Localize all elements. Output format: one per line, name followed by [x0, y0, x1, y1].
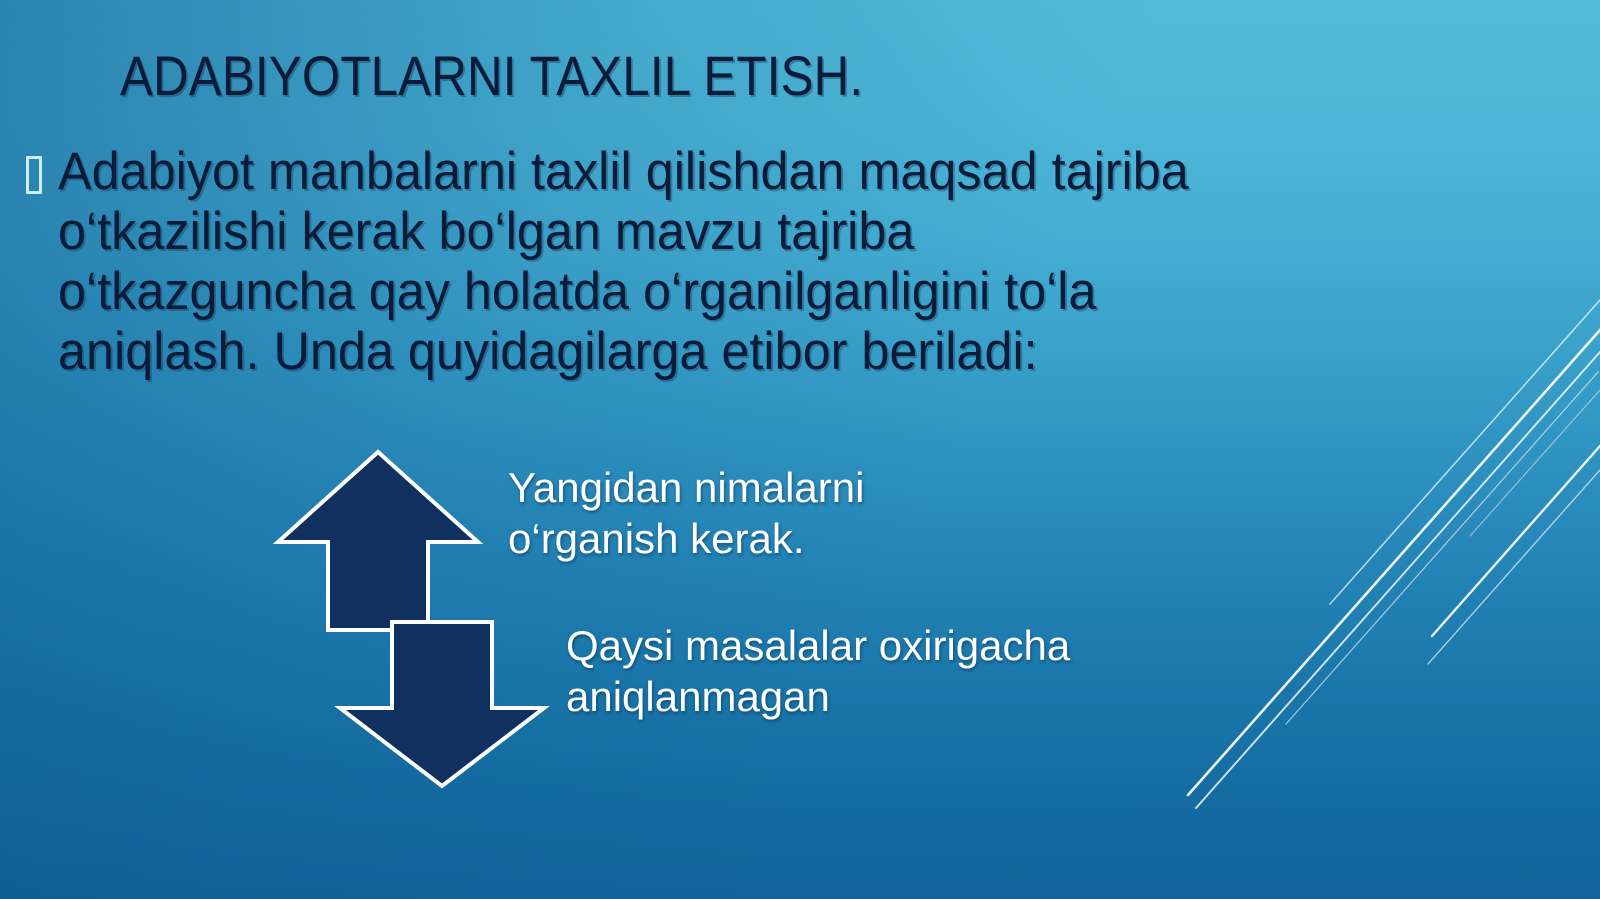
callout-top: Yangidan nimalarni o‘rganish kerak.	[508, 462, 864, 564]
down-arrow-icon	[326, 616, 562, 792]
callout-bottom-line: aniqlanmagan	[566, 671, 1070, 722]
body-line: o‘tkazilishi kerak bo‘lgan mavzu tajriba	[58, 202, 1510, 262]
body-line: aniqlash. Unda quyidagilarga etibor beri…	[58, 322, 1510, 382]
callout-bottom-line: Qaysi masalalar oxirigacha	[566, 620, 1070, 671]
callout-top-line: o‘rganish kerak.	[508, 513, 864, 564]
body-bullet-item: Adabiyot manbalarni taxlil qilishdan maq…	[26, 142, 1586, 382]
body-text: Adabiyot manbalarni taxlil qilishdan maq…	[58, 142, 1510, 382]
up-arrow-icon	[262, 446, 494, 636]
callout-top-line: Yangidan nimalarni	[508, 462, 864, 513]
diagonal-streak-lines	[0, 0, 1600, 899]
body-line: Adabiyot manbalarni taxlil qilishdan maq…	[58, 142, 1510, 202]
slide-canvas: ADABIYOTLARNI TAXLIL ETISH. Adabiyot man…	[0, 0, 1600, 899]
callout-bottom: Qaysi masalalar oxirigacha aniqlanmagan	[566, 620, 1070, 722]
missing-glyph-box-icon	[26, 156, 42, 194]
body-line: o‘tkazguncha qay holatda o‘rganilganligi…	[58, 262, 1510, 322]
slide-title: ADABIYOTLARNI TAXLIL ETISH.	[120, 46, 1317, 105]
